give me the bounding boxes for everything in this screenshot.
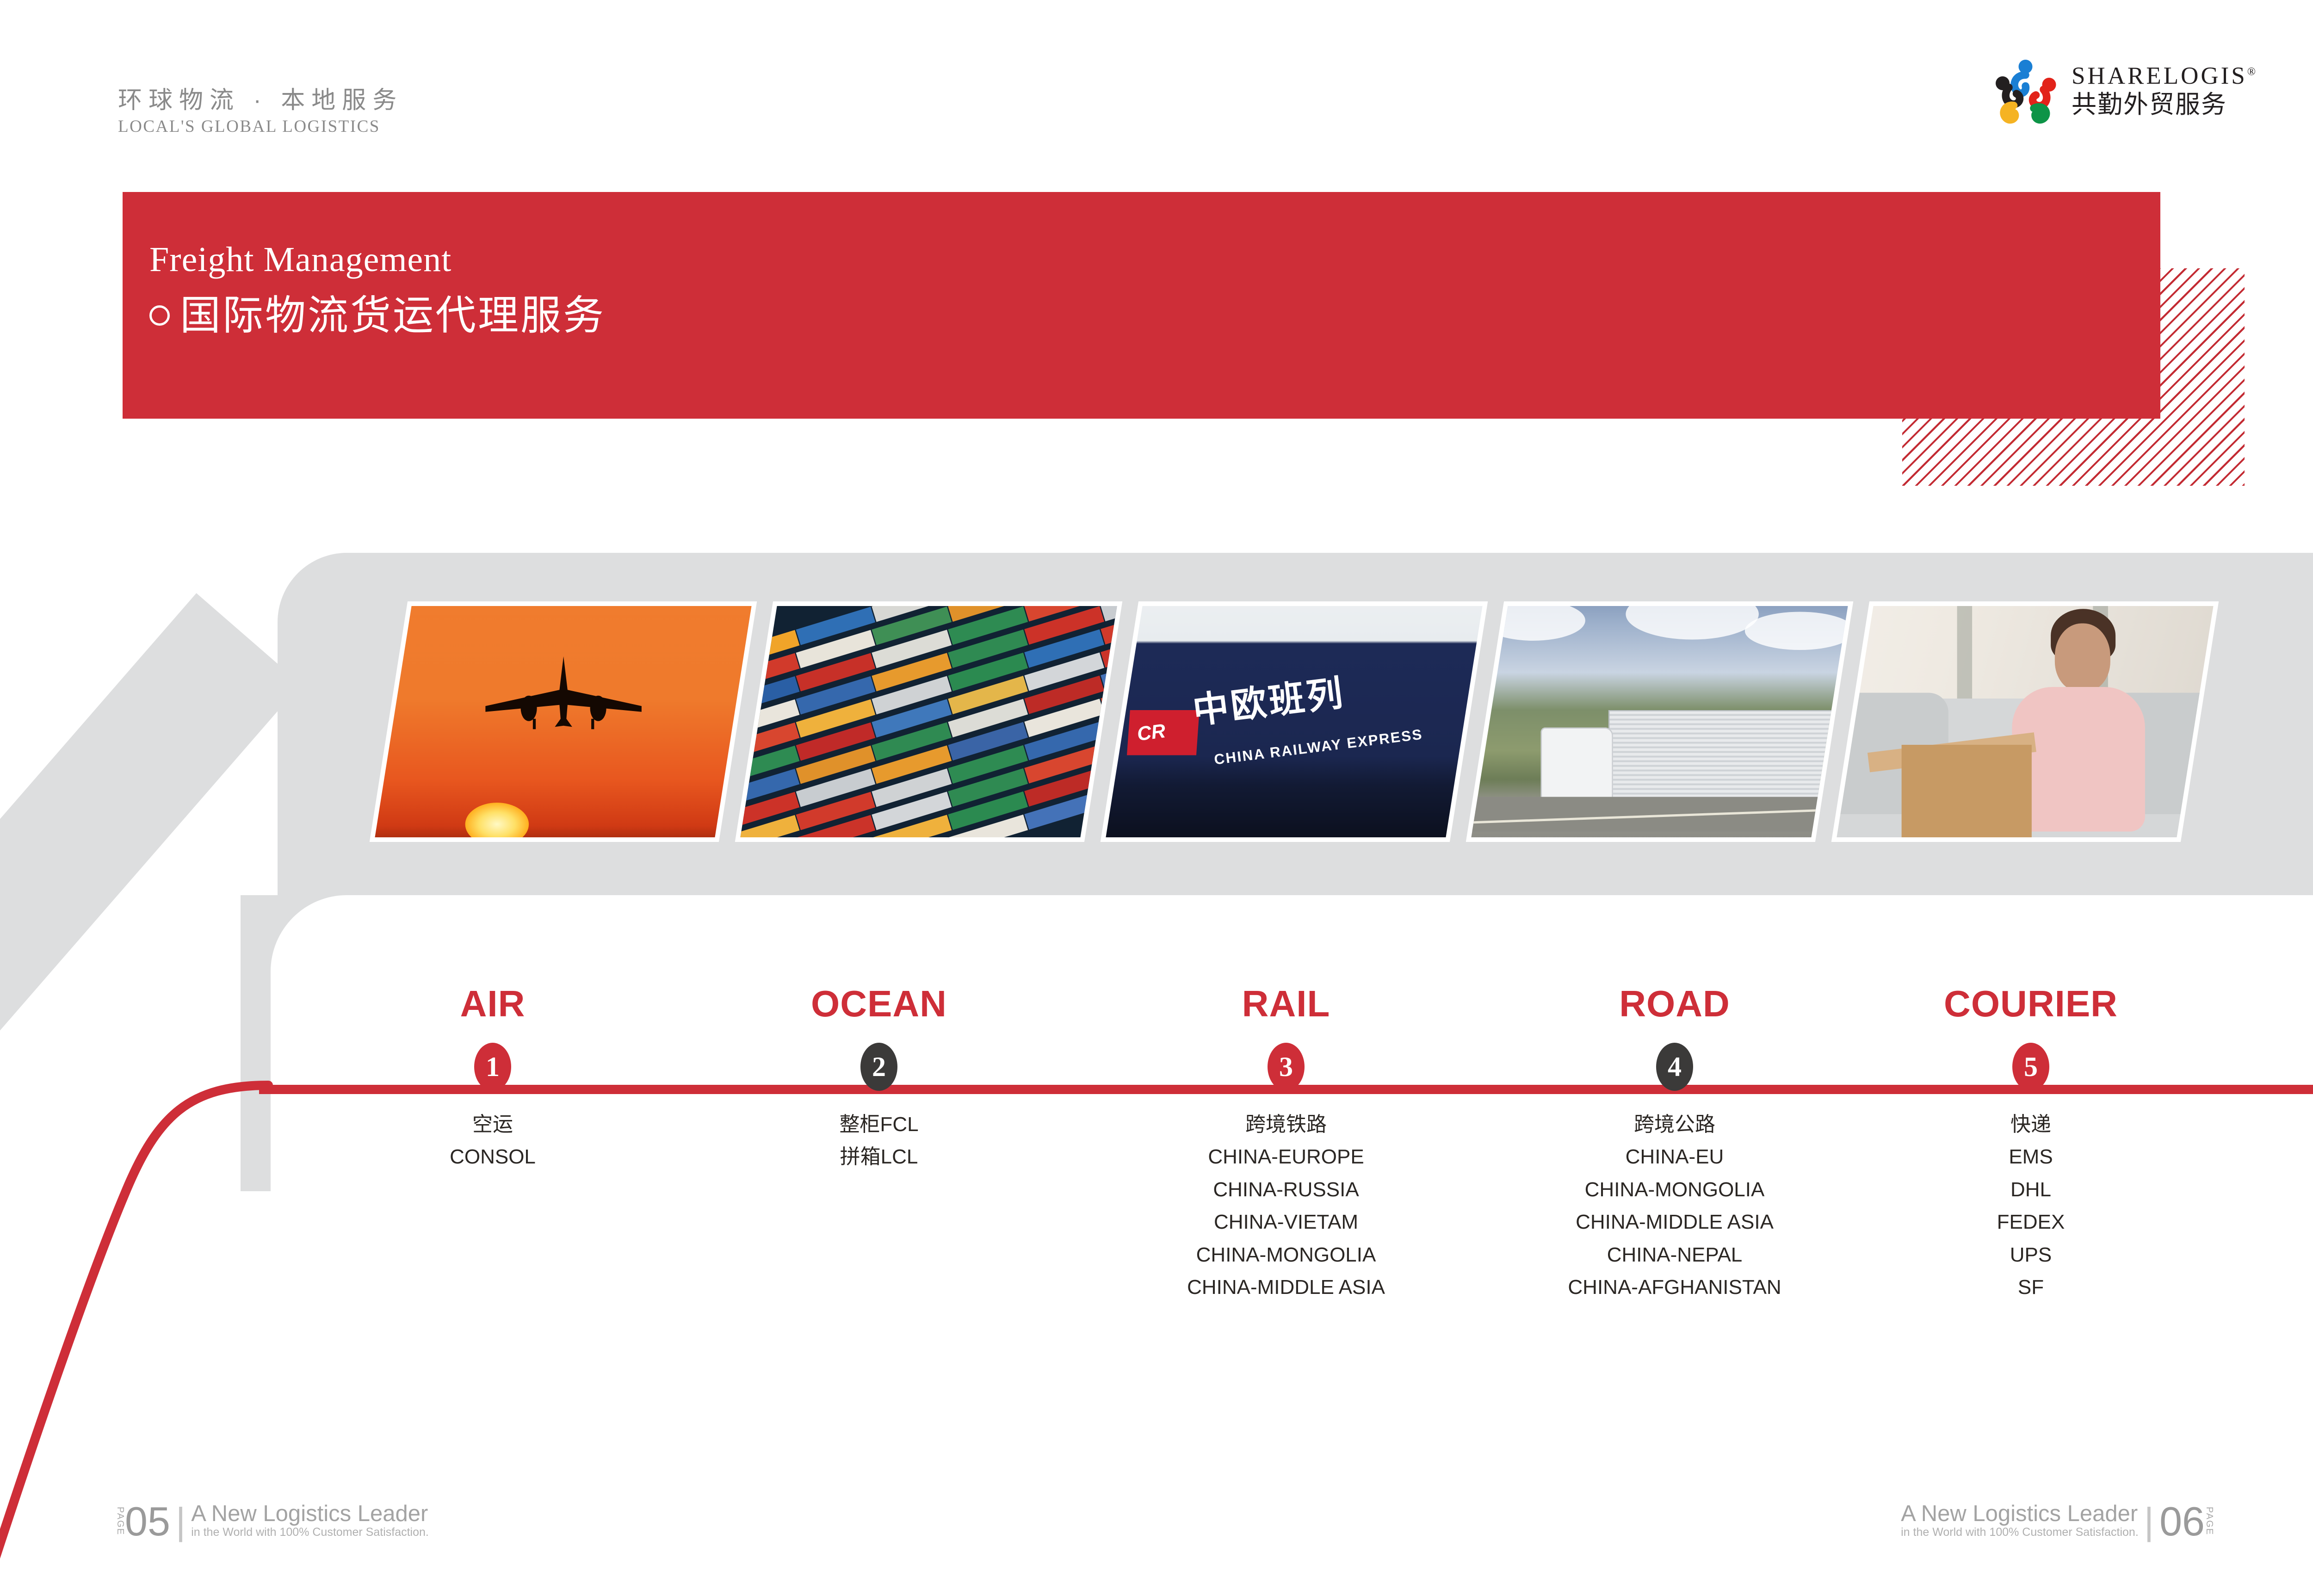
list-item: CHINA-MIDDLE ASIA (1143, 1271, 1429, 1304)
list-item: SF (1938, 1271, 2123, 1304)
list-item: 空运 (416, 1108, 569, 1141)
footer-slogan-left: A New Logistics Leader in the World with… (191, 1502, 429, 1538)
list-item: DHL (1938, 1174, 2123, 1206)
footer-divider-right: | (2144, 1505, 2154, 1538)
footer-slogan-right: A New Logistics Leader in the World with… (1901, 1502, 2139, 1538)
sun-glow (465, 803, 529, 842)
mode-badge-1: 1 (474, 1043, 511, 1091)
rail-brand-en: CHINA RAILWAY EXPRESS (1213, 726, 1423, 768)
list-item: EMS (1938, 1141, 2123, 1173)
airplane-silhouette-icon (468, 650, 659, 736)
company-logo: SHARELOGIS® 共勤外贸服务 (1990, 56, 2258, 125)
slide-canvas: 环球物流 · 本地服务 LOCAL'S GLOBAL LOGISTICS SHA… (0, 0, 2313, 1596)
sharelogis-people-icon (1990, 56, 2061, 125)
list-item: 快递 (1938, 1108, 2123, 1141)
footer-slogan-line1: A New Logistics Leader (1901, 1502, 2139, 1526)
highway-asphalt (1466, 797, 1853, 832)
section-title-chinese: 国际物流货运代理服务 (180, 295, 606, 336)
list-item: CHINA-EU (1527, 1141, 1823, 1173)
list-item: 跨境铁路 (1143, 1108, 1429, 1141)
circle-bullet-icon (149, 305, 170, 326)
mode-service-list: 快递 EMS DHL FEDEX UPS SF (1938, 1108, 2123, 1304)
list-item: CHINA-VIETAM (1143, 1206, 1429, 1238)
footer-slogan-line2: in the World with 100% Customer Satisfac… (1901, 1526, 2139, 1539)
mode-service-list: 跨境公路 CHINA-EU CHINA-MONGOLIA CHINA-MIDDL… (1527, 1108, 1823, 1304)
mode-column-rail: RAIL 3 跨境铁路 CHINA-EUROPE CHINA-RUSSIA CH… (1143, 985, 1429, 1304)
list-item: CHINA-MONGOLIA (1527, 1174, 1823, 1206)
horizon-ground (370, 840, 757, 842)
mode-heading: ROAD (1527, 985, 1823, 1022)
section-title-chinese-row: 国际物流货运代理服务 (149, 295, 606, 336)
footer-divider-left: | (176, 1505, 186, 1538)
road-freight-photo (1466, 601, 1853, 842)
mode-badge-5: 5 (2012, 1043, 2049, 1091)
mode-badge-4: 4 (1656, 1043, 1693, 1091)
registered-mark: ® (2247, 66, 2258, 78)
logo-name-cn: 共勤外贸服务 (2072, 92, 2258, 117)
mode-badge-3: 3 (1268, 1043, 1305, 1091)
rail-freight-photo: CR 中欧班列 CHINA RAILWAY EXPRESS (1101, 601, 1488, 842)
banner-text-group: Freight Management 国际物流货运代理服务 (149, 241, 606, 336)
rail-brand-cr: CR (1136, 720, 1167, 746)
mode-heading: OCEAN (786, 985, 971, 1022)
person-head (2055, 624, 2110, 692)
list-item: CHINA-MIDDLE ASIA (1527, 1206, 1823, 1238)
courier-photo (1831, 601, 2219, 842)
list-item: CHINA-RUSSIA (1143, 1174, 1429, 1206)
list-item: FEDEX (1938, 1206, 2123, 1238)
list-item: CHINA-EUROPE (1143, 1141, 1429, 1173)
truck-trailer (1608, 710, 1837, 805)
section-title-english: Freight Management (149, 241, 606, 279)
list-item: UPS (1938, 1239, 2123, 1271)
section-title-banner: Freight Management 国际物流货运代理服务 (123, 192, 2160, 419)
transport-photo-strip: CR 中欧班列 CHINA RAILWAY EXPRESS (389, 601, 2193, 842)
mode-service-list: 空运 CONSOL (416, 1108, 569, 1174)
footer-slogan-line1: A New Logistics Leader (191, 1502, 429, 1526)
brand-tagline: 环球物流 · 本地服务 LOCAL'S GLOBAL LOGISTICS (118, 86, 442, 138)
air-freight-photo (370, 601, 757, 842)
page-label-left: PAGE (116, 1507, 125, 1535)
footer-slogan-line2: in the World with 100% Customer Satisfac… (191, 1526, 429, 1539)
mode-service-list: 跨境铁路 CHINA-EUROPE CHINA-RUSSIA CHINA-VIE… (1143, 1108, 1429, 1304)
mode-heading: AIR (416, 985, 569, 1022)
ocean-freight-photo (735, 601, 1122, 842)
person-torso (2012, 687, 2146, 832)
list-item: CHINA-NEPAL (1527, 1239, 1823, 1271)
mode-badge-2: 2 (860, 1043, 897, 1091)
page-number-left: 05 (125, 1505, 170, 1538)
page-label-right: PAGE (2205, 1507, 2214, 1535)
tagline-english: LOCAL'S GLOBAL LOGISTICS (118, 116, 442, 138)
mode-heading: RAIL (1143, 985, 1429, 1022)
list-item: 拼箱LCL (786, 1141, 971, 1173)
cardboard-box (1902, 745, 2032, 842)
mode-heading: COURIER (1938, 985, 2123, 1022)
page-number-right: 06 (2159, 1505, 2205, 1538)
list-item: 整柜FCL (786, 1108, 971, 1141)
mode-column-courier: COURIER 5 快递 EMS DHL FEDEX UPS SF (1938, 985, 2123, 1304)
mode-service-list: 整柜FCL 拼箱LCL (786, 1108, 971, 1174)
list-item: 跨境公路 (1527, 1108, 1823, 1141)
list-item: CHINA-AFGHANISTAN (1527, 1271, 1823, 1304)
footer-left: PAGE 05 | A New Logistics Leader in the … (116, 1502, 429, 1538)
logo-name-en: SHARELOGIS® (2072, 64, 2258, 88)
rail-brand-cn: 中欧班列 (1189, 663, 1347, 734)
mode-column-air: AIR 1 空运 CONSOL (416, 985, 569, 1174)
mode-column-ocean: OCEAN 2 整柜FCL 拼箱LCL (786, 985, 971, 1174)
footer-right: A New Logistics Leader in the World with… (1901, 1502, 2214, 1538)
list-item: CHINA-MONGOLIA (1143, 1239, 1429, 1271)
tagline-chinese: 环球物流 · 本地服务 (118, 86, 442, 116)
mode-column-road: ROAD 4 跨境公路 CHINA-EU CHINA-MONGOLIA CHIN… (1527, 985, 1823, 1304)
list-item: CONSOL (416, 1141, 569, 1173)
truck-cab (1540, 728, 1613, 806)
logo-wordmark: SHARELOGIS® 共勤外贸服务 (2072, 64, 2258, 117)
